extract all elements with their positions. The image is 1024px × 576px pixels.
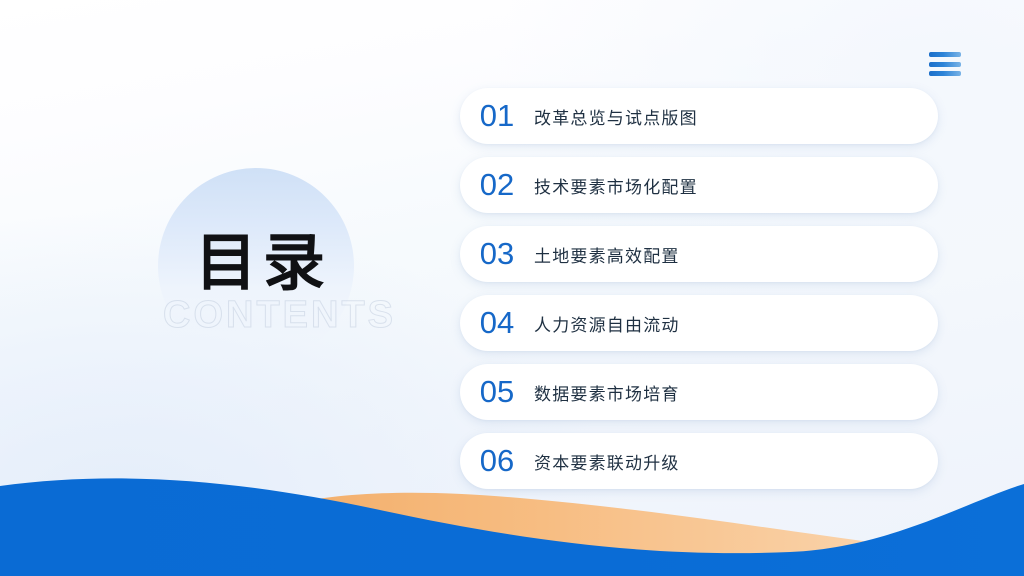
- wave-blue-band: [0, 478, 1024, 576]
- list-item[interactable]: 03 土地要素高效配置: [460, 226, 938, 282]
- list-item-number: 05: [460, 374, 534, 410]
- hamburger-bar-top: [929, 52, 961, 57]
- list-item-label: 人力资源自由流动: [534, 311, 680, 336]
- list-item[interactable]: 05 数据要素市场培育: [460, 364, 938, 420]
- contents-list: 01 改革总览与试点版图 02 技术要素市场化配置 03 土地要素高效配置 04…: [460, 88, 938, 489]
- list-item-label: 技术要素市场化配置: [534, 173, 698, 198]
- list-item[interactable]: 04 人力资源自由流动: [460, 295, 938, 351]
- decorative-halo-circle: [158, 168, 354, 364]
- list-item-label: 土地要素高效配置: [534, 242, 680, 267]
- list-item-number: 03: [460, 236, 534, 272]
- page-subtitle: CONTENTS: [160, 296, 360, 334]
- list-item-label: 数据要素市场培育: [534, 380, 680, 405]
- list-item[interactable]: 06 资本要素联动升级: [460, 433, 938, 489]
- presentation-slide: 目录 CONTENTS 01 改革总览与试点版图 02 技术要素市场化配置 03…: [0, 0, 1024, 576]
- hamburger-menu-icon[interactable]: [929, 52, 961, 76]
- hamburger-bar-bottom: [929, 71, 961, 76]
- list-item-label: 改革总览与试点版图: [534, 104, 698, 129]
- wave-orange-band: [150, 493, 1024, 576]
- page-title: 目录: [160, 232, 360, 294]
- list-item-number: 01: [460, 98, 534, 134]
- list-item-label: 资本要素联动升级: [534, 449, 680, 474]
- list-item[interactable]: 01 改革总览与试点版图: [460, 88, 938, 144]
- list-item-number: 02: [460, 167, 534, 203]
- list-item-number: 04: [460, 305, 534, 341]
- list-item[interactable]: 02 技术要素市场化配置: [460, 157, 938, 213]
- list-item-number: 06: [460, 443, 534, 479]
- slide-title-block: 目录 CONTENTS: [160, 196, 360, 336]
- hamburger-bar-middle: [929, 62, 961, 67]
